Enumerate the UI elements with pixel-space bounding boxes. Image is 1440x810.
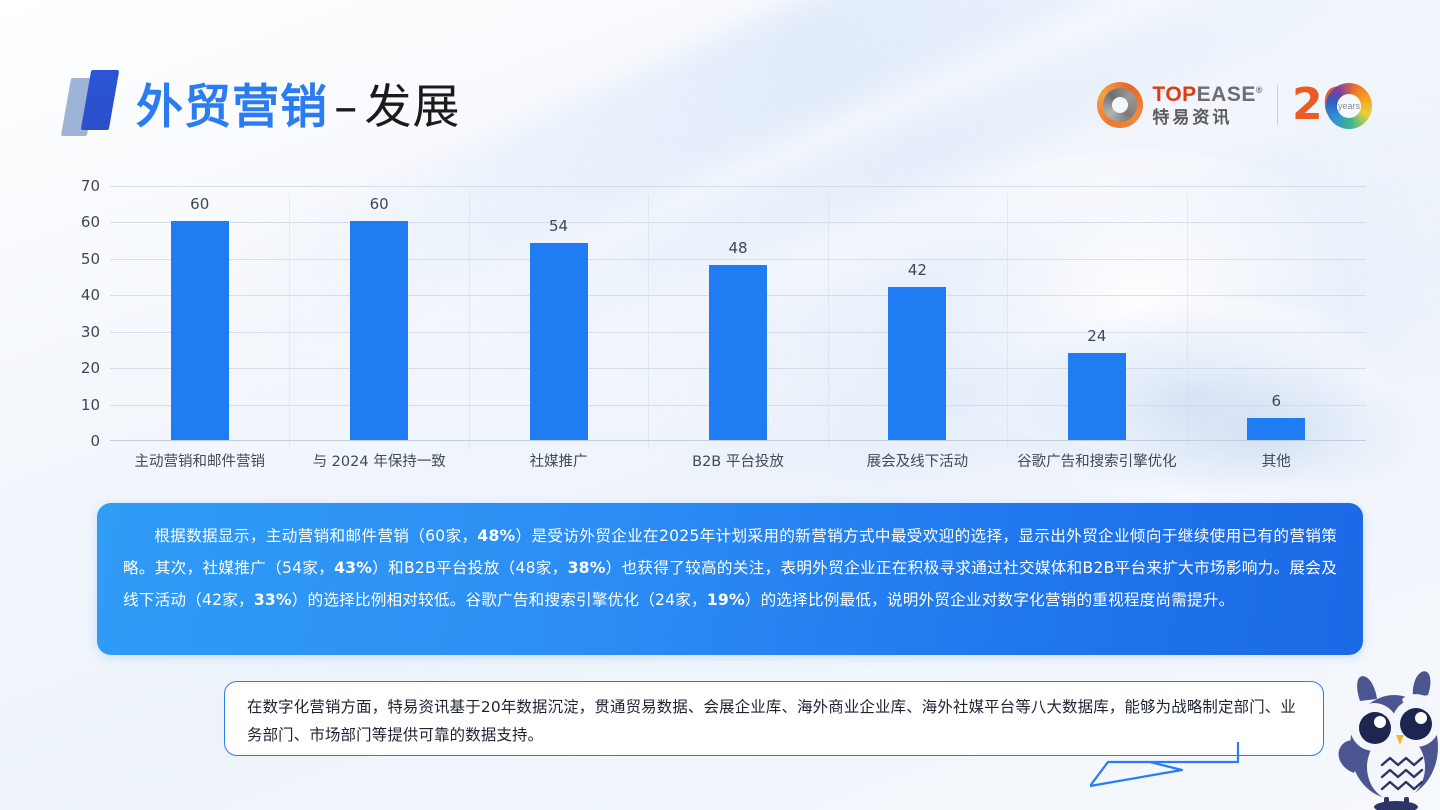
x-axis-labels: 主动营销和邮件营销与 2024 年保持一致社媒推广B2B 平台投放展会及线下活动… [110, 450, 1366, 478]
x-axis-tick-label: 谷歌广告和搜索引擎优化 [1017, 450, 1177, 471]
y-axis-tick-label: 10 [81, 396, 100, 414]
x-axis-tick-label: 社媒推广 [530, 450, 588, 471]
y-axis-tick-label: 30 [81, 323, 100, 341]
brand-top-gray: EASE [1197, 83, 1256, 106]
chart-bars: 6060544842246 [110, 186, 1366, 440]
highlight-percentage: 19% [707, 591, 745, 609]
page-title-primary: 外贸营销 [136, 80, 328, 135]
bar[interactable] [1068, 353, 1126, 440]
x-axis-tick-label: B2B 平台投放 [692, 450, 784, 471]
page-title: 外贸营销–发展 [136, 68, 461, 137]
brand-top-red: TOP [1152, 83, 1196, 106]
bar[interactable] [530, 243, 588, 440]
bar-chart: 010203040506070 6060544842246 主动营销和邮件营销与… [66, 178, 1366, 478]
brand-wordmark: TOPEASE® 特易资讯 [1152, 84, 1263, 126]
y-axis-ticks: 010203040506070 [66, 186, 110, 441]
bar-value-label: 60 [190, 195, 209, 213]
bar[interactable] [888, 287, 946, 440]
bar-value-label: 24 [1087, 327, 1106, 345]
y-axis-tick-label: 70 [81, 177, 100, 195]
bar-value-label: 48 [728, 239, 747, 257]
page-title-secondary: 发展 [365, 80, 461, 135]
owl-mascot-icon [1336, 655, 1440, 810]
logo-divider [1277, 85, 1278, 125]
bar-value-label: 60 [370, 195, 389, 213]
callout-text-segment: 根据数据显示，主动营销和邮件营销（60家， [154, 527, 477, 545]
bar[interactable] [350, 221, 408, 440]
x-axis-line [110, 440, 1366, 441]
y-axis-tick-label: 20 [81, 359, 100, 377]
x-axis-tick-label: 其他 [1262, 450, 1291, 471]
bar-slot[interactable]: 48 [648, 186, 827, 440]
bar-slot[interactable]: 24 [1007, 186, 1186, 440]
highlight-percentage: 48% [477, 527, 515, 545]
analysis-callout: 根据数据显示，主动营销和邮件营销（60家，48%）是受访外贸企业在2025年计划… [97, 503, 1363, 655]
callout-text-segment: ）的选择比例相对较低。谷歌广告和搜索引擎优化（24家， [292, 591, 707, 609]
bar-slot[interactable]: 60 [289, 186, 468, 440]
chart-plot-area: 6060544842246 [110, 186, 1366, 441]
bar[interactable] [171, 221, 229, 440]
slide-header: 外贸营销–发展 TOPEASE® 特易资讯 20 years [0, 0, 1440, 165]
highlight-percentage: 38% [568, 559, 606, 577]
bar-value-label: 42 [908, 261, 927, 279]
callout-text-segment: ）的选择比例最低，说明外贸企业对数字化营销的重视程度尚需提升。 [745, 591, 1235, 609]
title-accent-mark [66, 70, 128, 136]
bar-slot[interactable]: 60 [110, 186, 289, 440]
brand-logo: TOPEASE® 特易资讯 20 years [1097, 78, 1380, 132]
x-axis-tick-label: 主动营销和邮件营销 [134, 450, 265, 471]
anniversary-badge: 20 years [1292, 81, 1380, 129]
y-axis-tick-label: 50 [81, 250, 100, 268]
y-axis-tick-label: 0 [90, 432, 100, 450]
y-axis-tick-label: 40 [81, 286, 100, 304]
topease-ring-icon [1097, 82, 1143, 128]
bar-slot[interactable]: 42 [828, 186, 1007, 440]
bar-value-label: 54 [549, 217, 568, 235]
callout-text-segment: ）和B2B平台投放（48家， [372, 559, 568, 577]
highlight-percentage: 43% [334, 559, 372, 577]
bar-slot[interactable]: 54 [469, 186, 648, 440]
bar[interactable] [1247, 418, 1305, 440]
bar-value-label: 6 [1271, 392, 1281, 410]
y-axis-tick-label: 60 [81, 213, 100, 231]
anniversary-years-label: years [1338, 101, 1360, 111]
x-axis-tick-label: 展会及线下活动 [867, 450, 969, 471]
bar-slot[interactable]: 6 [1187, 186, 1366, 440]
analysis-callout-text: 根据数据显示，主动营销和邮件营销（60家，48%）是受访外贸企业在2025年计划… [123, 520, 1337, 616]
page-title-dash: – [328, 80, 365, 135]
x-axis-tick-label: 与 2024 年保持一致 [313, 450, 446, 471]
brand-name-cn: 特易资讯 [1152, 109, 1263, 126]
brand-registered-mark: ® [1256, 85, 1263, 95]
callout-tail [1090, 740, 1290, 790]
highlight-percentage: 33% [254, 591, 292, 609]
bar[interactable] [709, 265, 767, 440]
